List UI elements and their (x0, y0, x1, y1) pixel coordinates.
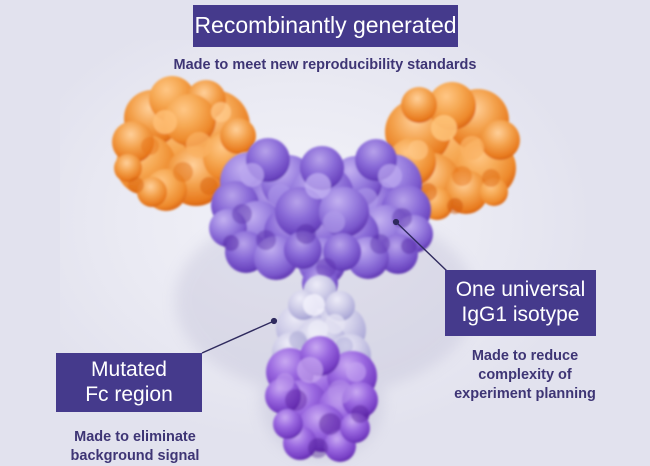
callout-box-recombinantly-generated[interactable]: Recombinantly generated (193, 5, 458, 47)
callout-label-right-line1: One universal (456, 278, 586, 301)
callout-label-left-line2: Fc region (85, 383, 173, 406)
caption-right-line3: experiment planning (454, 386, 596, 402)
callout-label-right: One universal IgG1 isotype (456, 278, 586, 328)
infographic-canvas: Recombinantly generated Made to meet new… (0, 0, 650, 466)
caption-left-line1: Made to eliminate (74, 429, 196, 445)
callout-label-left: Mutated Fc region (85, 358, 173, 408)
callout-box-one-universal-igg1-isotype[interactable]: One universal IgG1 isotype (445, 270, 596, 336)
callout-label-left-line1: Mutated (91, 358, 167, 381)
caption-right-line2: complexity of (478, 367, 571, 383)
callout-label-top: Recombinantly generated (194, 12, 456, 39)
callout-box-mutated-fc-region[interactable]: Mutated Fc region (56, 353, 202, 412)
caption-right-line1: Made to reduce (472, 348, 578, 364)
caption-top-text: Made to meet new reproducibility standar… (174, 57, 477, 73)
caption-top: Made to meet new reproducibility standar… (135, 56, 515, 75)
caption-left-line2: background signal (71, 448, 200, 464)
callout-label-right-line2: IgG1 isotype (462, 303, 580, 326)
caption-left: Made to eliminate background signal (40, 428, 230, 466)
caption-right: Made to reduce complexity of experiment … (440, 347, 610, 404)
